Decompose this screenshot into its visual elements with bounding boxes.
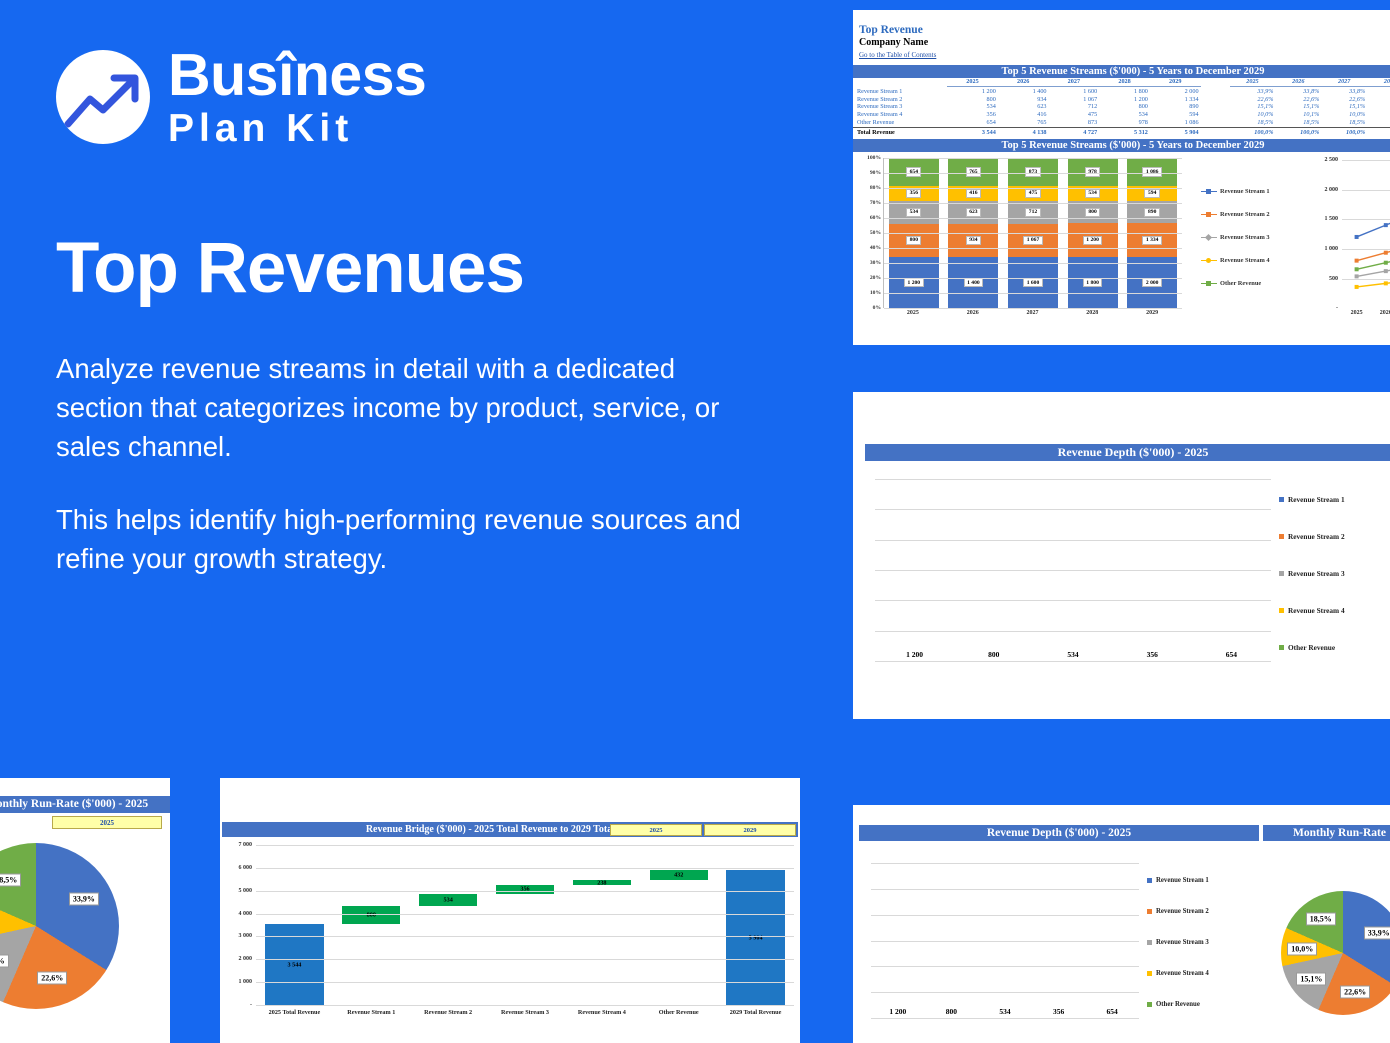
bar-value-label: 712 [1025,208,1040,217]
legend-swatch [1201,191,1217,193]
bar-segment: 800 [889,224,939,258]
brand-name-line1: Busîness [168,46,426,105]
revenue-streams-table: 202520262027202820292025202620272028Reve… [853,78,1390,136]
waterfall-bar: 534 [410,845,487,1005]
gridline [884,188,1182,189]
bridge-plot: 3 5448005343562384325 904 [256,845,794,1005]
legend-label: Revenue Stream 2 [1288,532,1345,541]
bar-value-label: 238 [573,879,631,886]
gridline [875,661,1271,662]
pie-slice-label: 15,1% [0,954,9,967]
bar-segment: 978 [1068,158,1118,186]
legend-swatch [1147,1002,1152,1007]
gridline [871,889,1139,890]
gridline [256,914,794,915]
gridline [875,600,1271,601]
table-row: Revenue Stream 28009341 0671 2001 33422,… [853,95,1390,103]
y-tick-label: 5 000 [239,888,253,894]
bar-segment: 712 [1008,201,1058,224]
bridge-y-axis: -1 0002 0003 0004 0005 0006 0007 000 [220,845,252,1005]
pie-slice-label: 33,9% [1364,927,1390,940]
y-tick-label: 0% [873,305,881,311]
sheet-title: Top Revenue [859,24,1390,36]
brand-logo: Busîness Plan Kit [56,46,796,148]
bar-segment: 1 067 [1008,224,1058,258]
pie-slice-label: 22,6% [37,972,67,985]
bar-value-label: 2 000 [1142,278,1162,287]
y-tick-label: 1 500 [1325,216,1339,222]
waterfall-bar: 238 [563,845,640,1005]
gridline [884,308,1182,309]
bar-segment: 2 000 [1127,257,1177,308]
legend-item: Other Revenue [1147,989,1259,1020]
bar-value-label: 800 [342,911,400,918]
legend-item: Revenue Stream 2 [1279,518,1390,555]
y-tick-label: 70% [870,200,881,206]
y-tick-label: - [1336,305,1338,311]
stacked-plot: 6543565348001 2007654166239341 400873475… [883,158,1182,308]
line-x-axis: 20252026202720282029 [1342,310,1390,316]
revenue-depth-chart-2: 1 200800534356654 Revenue Stream 1Revenu… [859,845,1259,1043]
hero-paragraph-1: Analyze revenue streams in detail with a… [56,349,746,466]
gridline [871,1018,1139,1019]
revenue-depth-chart: 1 200800534356654 Revenue Stream 1Revenu… [865,467,1390,672]
legend-swatch [1201,237,1217,239]
year-selector[interactable]: 2025 [610,824,702,836]
y-tick-label: 2 500 [1325,157,1339,163]
legend-swatch [1279,571,1284,576]
legend-label: Other Revenue [1156,1001,1200,1008]
waterfall-bar: 356 [487,845,564,1005]
bar-value-label: 765 [966,167,981,176]
y-tick-label: 4 000 [239,911,253,917]
table-row: Revenue Stream 11 2001 4001 6001 8002 00… [853,87,1390,95]
bar-value-label: 356 [1032,1007,1086,1016]
bar-segment: 1 334 [1127,223,1177,257]
gridline [875,631,1271,632]
legend-item: Revenue Stream 1 [1147,865,1259,896]
gridline [256,982,794,983]
bar-value-label: 416 [966,189,981,198]
y-tick-label: 80% [870,185,881,191]
legend-label: Other Revenue [1220,280,1261,287]
legend-swatch [1201,260,1217,262]
bar-segment: 765 [948,158,998,186]
bar-value-label: 594 [1144,189,1159,198]
bar-value-label: 800 [1085,208,1100,217]
run-rate-title-2: Monthly Run-Rate ($'000) - 2025 [1263,825,1390,841]
y-tick-label: 60% [870,215,881,221]
gridline [875,570,1271,571]
gridline [871,992,1139,993]
pie-slice-label: 10,0% [1287,942,1317,955]
table-row: Revenue Stream 435641647553459410,0%10,1… [853,111,1390,119]
bar-value-label: 534 [1085,189,1100,198]
bridge-x-axis: 2025 Total RevenueRevenue Stream 1Revenu… [256,1009,794,1016]
gridline [884,278,1182,279]
year-selector[interactable]: 2025 [52,816,162,829]
legend-label: Revenue Stream 1 [1288,495,1345,504]
y-tick-label: 90% [870,170,881,176]
gridline [884,263,1182,264]
bar-value-label: 978 [1085,167,1100,176]
bar-value-label: 654 [1192,650,1271,659]
x-tick-label: 2027 [1007,310,1057,316]
bar-value-label: 356 [496,886,554,893]
bar-segment: 890 [1127,201,1177,224]
bar-value-label: 356 [1113,650,1192,659]
gridline [871,941,1139,942]
band-right-stub [1373,444,1390,461]
legend-item: Revenue Stream 3 [1147,927,1259,958]
revenue-depth-panel: Revenue Depth ($'000) - 2025 1 200800534… [853,392,1390,719]
brand-name-line2: Plan Kit [168,109,426,148]
bar-value-label: 873 [1025,167,1040,176]
pie-slice-label: 33,9% [69,893,99,906]
bar-value-label: 1 200 [871,1007,925,1016]
legend-label: Revenue Stream 1 [1156,877,1209,884]
table-band-title: Top 5 Revenue Streams ($'000) - 5 Years … [853,65,1390,78]
gridline [256,959,794,960]
legend-label: Revenue Stream 2 [1156,908,1209,915]
legend-swatch [1279,534,1284,539]
line-series [1357,229,1390,261]
bar-value-label: 3 544 [265,961,323,968]
bar-value-label: 534 [978,1007,1032,1016]
revenue-bridge-chart: -1 0002 0003 0004 0005 0006 0007 000 3 5… [220,839,800,1039]
bar-value-label: 1 086 [1142,167,1162,176]
legend-swatch [1279,497,1284,502]
waterfall-bar: 5 904 [717,845,794,1005]
bar-value-label: 534 [906,208,921,217]
stacked-100-chart: 0%10%20%30%40%50%60%70%80%90%100% 654356… [853,152,1198,330]
bar-segment: 1 200 [889,257,939,308]
gridline [871,915,1139,916]
x-tick-label: 2029 Total Revenue [717,1009,794,1016]
bar-value-label: 934 [966,236,981,245]
bar-value-label: 432 [650,872,708,879]
legend-label: Revenue Stream 2 [1220,211,1270,218]
revenue-depth-plot: 1 200800534356654 [875,479,1271,661]
revenue-depth-legend: Revenue Stream 1Revenue Stream 2Revenue … [1279,481,1390,666]
table-total-row: Total Revenue3 5444 1384 7275 3125 90410… [853,128,1390,136]
y-tick-label: 30% [870,260,881,266]
bar-value-label: 654 [906,167,921,176]
gridline [884,203,1182,204]
revenue-depth-panel-2: Revenue Depth ($'000) - 2025 Monthly Run… [853,805,1390,1043]
x-tick-label: 2025 [888,310,938,316]
gridline [875,509,1271,510]
legend-item: Revenue Stream 2 [1201,203,1306,226]
bar-value-label: 475 [1025,189,1040,198]
legend-item: Other Revenue [1279,629,1390,666]
table-row: Revenue Stream 353462371280089015,1%15,1… [853,103,1390,111]
waterfall-bar: 800 [333,845,410,1005]
bar-value-label: 534 [419,896,477,903]
bar-value-label: 800 [906,236,921,245]
bar-segment: 623 [948,201,998,224]
growth-arrow-icon [56,50,150,144]
y-tick-label: 6 000 [239,865,253,871]
gridline [871,863,1139,864]
x-tick-label: Revenue Stream 2 [410,1009,487,1016]
x-tick-label: Revenue Stream 4 [563,1009,640,1016]
pie-slice-label: 22,6% [1340,986,1370,999]
legend-label: Revenue Stream 4 [1156,970,1209,977]
waterfall-bar: 432 [640,845,717,1005]
gridline [884,173,1182,174]
x-tick-label: 2026 [948,310,998,316]
bar-rect: 534 [419,894,477,906]
spreadsheet-panel-top: Top Revenue Company Name Go to the Table… [853,10,1390,345]
bar-value-label: 1 200 [875,650,954,659]
bar-value-label: 1 200 [1083,236,1103,245]
gridline [875,479,1271,480]
gridline [884,158,1182,159]
legend-swatch [1147,940,1152,945]
table-row: Other Revenue6547658739781 08618,5%18,5%… [853,119,1390,128]
y-tick-label: 500 [1329,276,1338,282]
legend-label: Other Revenue [1288,643,1335,652]
bar-segment: 1 200 [1068,223,1118,257]
y-tick-label: 1 000 [1325,246,1339,252]
bar-value-label: 1 200 [904,278,924,287]
bar-value-label: 1 600 [1023,278,1043,287]
y-tick-label: 3 000 [239,933,253,939]
bar-value-label: 1 400 [964,278,984,287]
legend-label: Revenue Stream 4 [1220,257,1270,264]
bar-rect: 356 [496,885,554,893]
bar-value-label: 5 904 [726,934,784,941]
trend-line-chart: -5001 0001 5002 0002 500 202520262027202… [1308,154,1390,330]
bar-segment: 934 [948,224,998,258]
line-plot [1342,160,1390,308]
y-tick-label: 1 000 [239,979,253,985]
bar-segment: 1 800 [1068,257,1118,308]
legend-swatch [1147,909,1152,914]
legend-item: Revenue Stream 4 [1279,592,1390,629]
x-tick-label: 2029 [1127,310,1177,316]
hero-section: Busîness Plan Kit Top Revenues Analyze r… [56,46,796,578]
bar-segment: 534 [889,201,939,224]
y-tick-label: 2 000 [1325,187,1339,193]
bar-value-label: 534 [1033,650,1112,659]
waterfall-bar: 3 544 [256,845,333,1005]
bar-segment: 1 086 [1127,158,1177,186]
legend-swatch [1147,971,1152,976]
legend-swatch [1147,878,1152,883]
bar-rect: 800 [342,906,400,924]
bar-value-label: 1 067 [1023,236,1043,245]
gridline [884,218,1182,219]
bar-rect: 432 [650,870,708,880]
stacked-x-axis: 20252026202720282029 [883,310,1182,316]
legend-label: Revenue Stream 3 [1156,939,1209,946]
year-selector[interactable]: 2029 [704,824,796,836]
x-tick-label: 2025 Total Revenue [256,1009,333,1016]
line-y-axis: -5001 0001 5002 0002 500 [1308,160,1338,308]
x-tick-label: 2026 [1371,310,1390,316]
pie-slice-label: 18,5% [0,874,21,887]
bar-value-label: 1 334 [1142,236,1162,245]
run-rate-pie-panel-left: Monthly Run-Rate ($'000) - 2025 2025 33,… [0,778,170,1043]
gridline [256,936,794,937]
legend-swatch [1201,214,1217,216]
legend-label: Revenue Stream 1 [1220,188,1270,195]
bar-value-label: 654 [1085,1007,1139,1016]
y-tick-label: 100% [867,155,881,161]
legend-swatch [1279,608,1284,613]
legend-label: Revenue Stream 4 [1288,606,1345,615]
revenue-depth-legend-2: Revenue Stream 1Revenue Stream 2Revenue … [1147,865,1259,1020]
gridline [256,845,794,846]
stacked-y-axis: 0%10%20%30%40%50%60%70%80%90%100% [855,158,881,308]
legend-label: Revenue Stream 3 [1288,569,1345,578]
legend-item: Revenue Stream 2 [1147,896,1259,927]
gridline [256,891,794,892]
x-tick-label: Revenue Stream 3 [487,1009,564,1016]
x-tick-label: 2028 [1067,310,1117,316]
page-title: Top Revenues [56,232,796,307]
revenue-bridge-panel: Revenue Bridge ($'000) - 2025 Total Reve… [220,778,800,1043]
legend-item: Revenue Stream 3 [1201,226,1306,249]
bar-segment: 1 600 [1008,257,1058,308]
company-name: Company Name [859,37,1390,48]
legend-item: Revenue Stream 1 [1201,180,1306,203]
revenue-depth-title-2: Revenue Depth ($'000) - 2025 [859,825,1259,841]
bar-value-label: 800 [954,650,1033,659]
legend-item: Revenue Stream 3 [1279,555,1390,592]
table-of-contents-link[interactable]: Go to the Table of Contents [859,51,1390,59]
y-tick-label: 2 000 [239,956,253,962]
gridline [884,293,1182,294]
bar-segment: 1 400 [948,257,998,308]
legend-item: Revenue Stream 1 [1279,481,1390,518]
chart-band-title: Top 5 Revenue Streams ($'000) - 5 Years … [853,139,1390,152]
gridline [884,233,1182,234]
pie-slice-label: 15,1% [1296,972,1326,985]
y-tick-label: 50% [870,230,881,236]
pie-slice-label: 18,5% [1306,912,1336,925]
bar-segment: 800 [1068,201,1118,224]
legend-swatch [1279,645,1284,650]
legend-item: Other Revenue [1201,272,1306,295]
y-tick-label: 10% [870,290,881,296]
bar-value-label: 356 [906,189,921,198]
bar-value-label: 623 [966,208,981,217]
legend-item: Revenue Stream 4 [1201,249,1306,272]
legend-item: Revenue Stream 4 [1147,958,1259,989]
gridline [256,1005,794,1006]
legend-swatch [1201,283,1217,285]
run-rate-pie-title: Monthly Run-Rate ($'000) - 2025 [0,796,170,813]
gridline [884,248,1182,249]
y-tick-label: 40% [870,245,881,251]
revenue-depth-title: Revenue Depth ($'000) - 2025 [865,444,1390,461]
y-tick-label: 7 000 [239,842,253,848]
bridge-year-selectors[interactable]: 20252029 [610,824,796,836]
legend-label: Revenue Stream 3 [1220,234,1270,241]
line-series [1357,190,1390,237]
gridline [871,966,1139,967]
gridline [256,868,794,869]
revenue-depth-plot-2: 1 200800534356654 [871,863,1139,1018]
y-tick-label: - [250,1002,252,1008]
bar-segment: 873 [1008,158,1058,186]
x-tick-label: 2025 [1342,310,1371,316]
bar-rect: 238 [573,880,631,885]
gridline [875,540,1271,541]
x-tick-label: Other Revenue [640,1009,717,1016]
bar-value-label: 1 800 [1083,278,1103,287]
y-tick-label: 20% [870,275,881,281]
bar-segment: 654 [889,158,939,186]
hero-paragraph-2: This helps identify high-performing reve… [56,500,746,578]
bar-value-label: 800 [925,1007,979,1016]
stacked-chart-area: 0%10%20%30%40%50%60%70%80%90%100% 654356… [853,152,1390,330]
stacked-chart-legend: Revenue Stream 1Revenue Stream 2Revenue … [1201,180,1306,295]
x-tick-label: Revenue Stream 1 [333,1009,410,1016]
bar-value-label: 890 [1144,208,1159,217]
